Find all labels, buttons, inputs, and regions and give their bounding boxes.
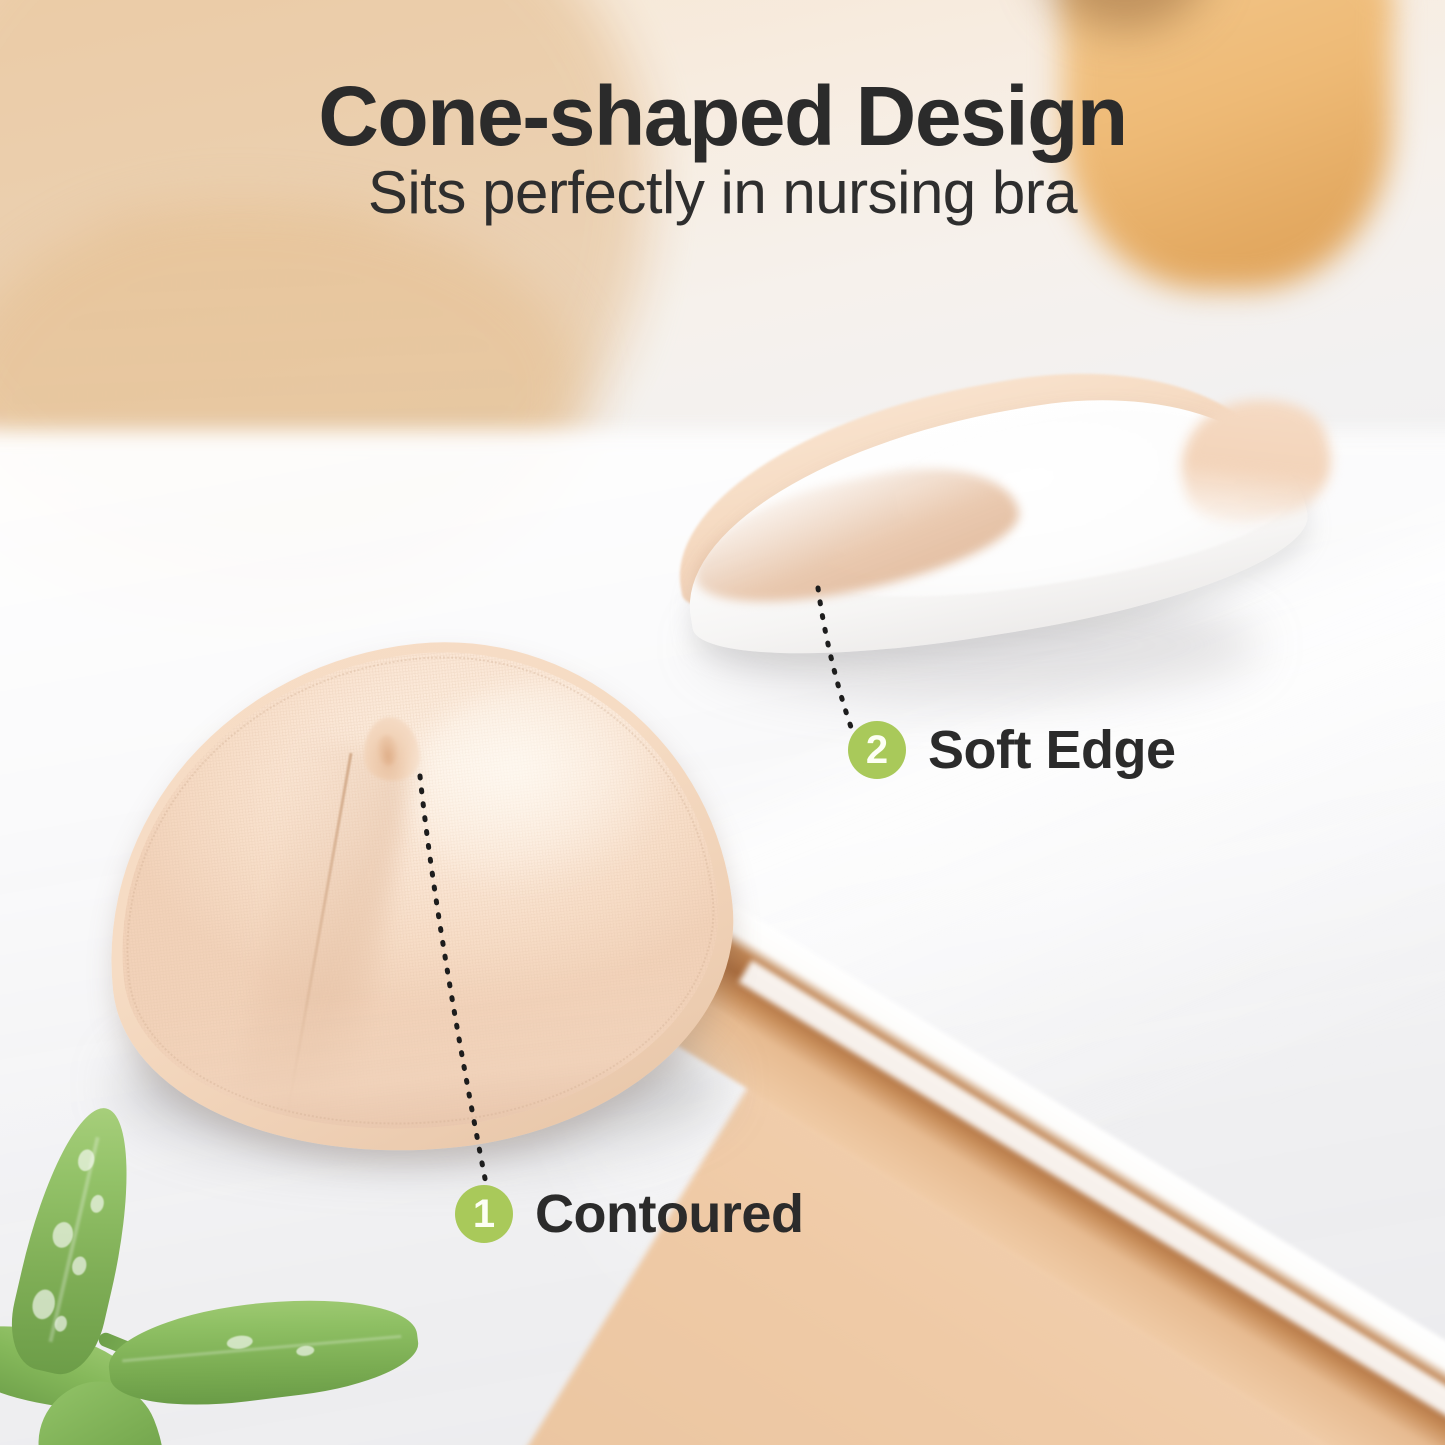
callout-label-contoured: Contoured xyxy=(535,1183,803,1245)
bamboo-leaves xyxy=(0,1085,430,1445)
callout-badge-1: 1 xyxy=(455,1185,513,1243)
nursing-pad-side-view xyxy=(660,370,1320,660)
page-title: Cone-shaped Design xyxy=(0,74,1445,158)
callout-label-soft-edge: Soft Edge xyxy=(928,719,1176,781)
callout-contoured[interactable]: 1 Contoured xyxy=(455,1183,803,1245)
callout-badge-2: 2 xyxy=(848,721,906,779)
water-droplet xyxy=(296,1345,315,1357)
leader-line-contoured xyxy=(380,770,560,1200)
bamboo-leaf-right xyxy=(103,1284,422,1417)
leader-line-soft-edge xyxy=(790,580,920,740)
callout-soft-edge[interactable]: 2 Soft Edge xyxy=(848,719,1176,781)
water-droplet xyxy=(89,1194,106,1214)
bamboo-leaf-vein xyxy=(122,1335,401,1362)
product-infographic: Cone-shaped Design Sits perfectly in nur… xyxy=(0,0,1445,1445)
water-droplet xyxy=(70,1255,88,1277)
page-subtitle: Sits perfectly in nursing bra xyxy=(0,163,1445,223)
